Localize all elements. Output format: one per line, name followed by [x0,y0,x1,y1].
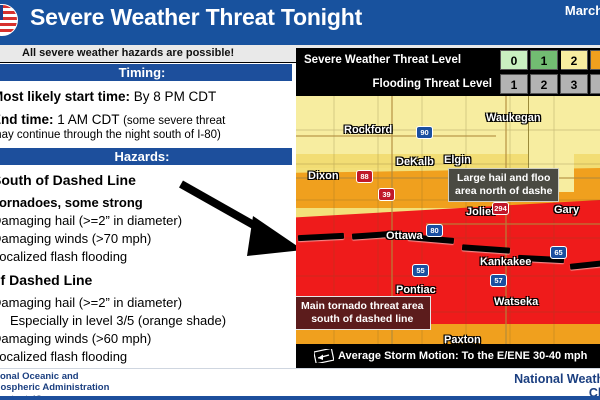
city-label-rockford: Rockford [344,124,392,136]
pointer-arrow-icon [175,178,310,263]
flood-level-1: 1 [500,74,528,94]
page-title: Severe Weather Threat Tonight [30,4,362,31]
hazard-north-item-2: Damaging winds (>60 mph) [0,331,151,346]
threat-map: Severe Weather Threat Level 0 1 2 3 4 Fl… [296,48,600,368]
highway-shield-80: 80 [426,224,443,237]
severe-threat-legend: Severe Weather Threat Level 0 1 2 3 4 [296,48,600,72]
timing-heading: Timing: [0,64,292,81]
header-date-line2: 3 [494,18,600,33]
highway-shield-55: 55 [412,264,429,277]
hazards-heading: Hazards: [0,148,292,165]
hazard-group-north-title: of Dashed Line [0,272,92,288]
noaa-line1: National Oceanic and [0,371,109,382]
storm-motion-text: Average Storm Motion: To the E/ENE 30-40… [338,344,587,368]
severe-legend-label: Severe Weather Threat Level [304,48,461,72]
hazard-south-item-0: Tornadoes, some strong [0,195,143,210]
flood-level-2: 2 [530,74,558,94]
footer-accent-bar [0,396,600,400]
highway-shield-65: 65 [550,246,567,259]
hazard-north-item-1: Especially in level 3/5 (orange shade) [10,313,226,328]
noaa-logo-icon [0,4,18,36]
flooding-threat-legend: Flooding Threat Level 1 2 3 4 [296,72,600,96]
callout-tornado-threat: Main tornado threat area south of dashed… [296,296,431,330]
highway-shield-294: 294 [492,202,509,215]
city-label-joliet: Joliet [466,206,495,218]
flood-level-4: 4 [590,74,600,94]
storm-motion-bar: Average Storm Motion: To the E/ENE 30-40… [296,344,600,368]
severe-level-0: 0 [500,50,528,70]
city-label-waukegan: Waukegan [486,112,541,124]
hazard-north-item-0: Damaging hail (>=2” in diameter) [0,295,182,310]
city-label-ottawa: Ottawa [386,230,423,242]
city-label-paxton: Paxton [444,334,481,344]
hazard-north-item-3: Localized flash flooding [0,349,127,364]
city-label-dixon: Dixon [308,170,339,182]
city-label-watseka: Watseka [494,296,538,308]
noaa-line2: Atmospheric Administration [0,382,109,393]
weather-graphic: Severe Weather Threat Tonight March 1 3 … [0,0,600,400]
severe-level-2: 2 [560,50,588,70]
timing-end-label: End time: [0,112,54,127]
callout-hail-line1: Large hail and floo [455,172,552,185]
hazard-group-south-title: South of Dashed Line [0,172,136,188]
highway-shield-57: 57 [490,274,507,287]
header-date: March 1 3 [494,3,600,33]
city-label-kankakee: Kankakee [480,256,531,268]
timing-end-note2: may continue through the night south of … [0,128,292,143]
callout-large-hail: Large hail and floo area north of dashe [448,168,559,202]
city-label-gary: Gary [554,204,579,216]
city-label-dekalb: DeKalb [396,156,434,168]
callout-tornado-line1: Main tornado threat area [301,300,424,313]
hazard-south-item-1: Damaging hail (>=2” in diameter) [0,213,182,228]
highway-shield-88: 88 [356,170,373,183]
footer-bar: National Oceanic and Atmospheric Adminis… [0,368,600,400]
callout-tornado-line2: south of dashed line [301,313,424,326]
flood-level-3: 3 [560,74,588,94]
hazard-south-item-3: Localized flash flooding [0,249,127,264]
hazard-south-item-2: Damaging winds (>70 mph) [0,231,151,246]
flooding-legend-label: Flooding Threat Level [296,72,492,96]
timing-start-row: Most likely start time: By 8 PM CDT [0,89,292,104]
subtitle-text: All severe weather hazards are possible! [22,47,234,59]
timing-start-label: Most likely start time: [0,89,130,104]
highway-shield-90: 90 [416,126,433,139]
timing-start-value: By 8 PM CDT [130,89,216,104]
storm-motion-arrow-icon [314,349,334,363]
header-bar: Severe Weather Threat Tonight March 1 3 [0,0,600,45]
city-label-elgin: Elgin [444,154,471,166]
timing-end-note: (some severe threat [123,115,225,127]
city-label-pontiac: Pontiac [396,284,436,296]
severe-level-1: 1 [530,50,558,70]
nws-line1: National Weather [514,372,600,386]
timing-end-row: End time: 1 AM CDT (some severe threat [0,112,292,129]
map-canvas: Rockford DeKalb Dixon Waukegan Elgin Chi… [296,96,600,344]
callout-hail-line2: area north of dashe [455,185,552,198]
timing-end-value: 1 AM CDT [54,112,120,127]
severe-level-3: 3 [590,50,600,70]
highway-shield-39: 39 [378,188,395,201]
header-date-line1: March 1 [494,3,600,18]
